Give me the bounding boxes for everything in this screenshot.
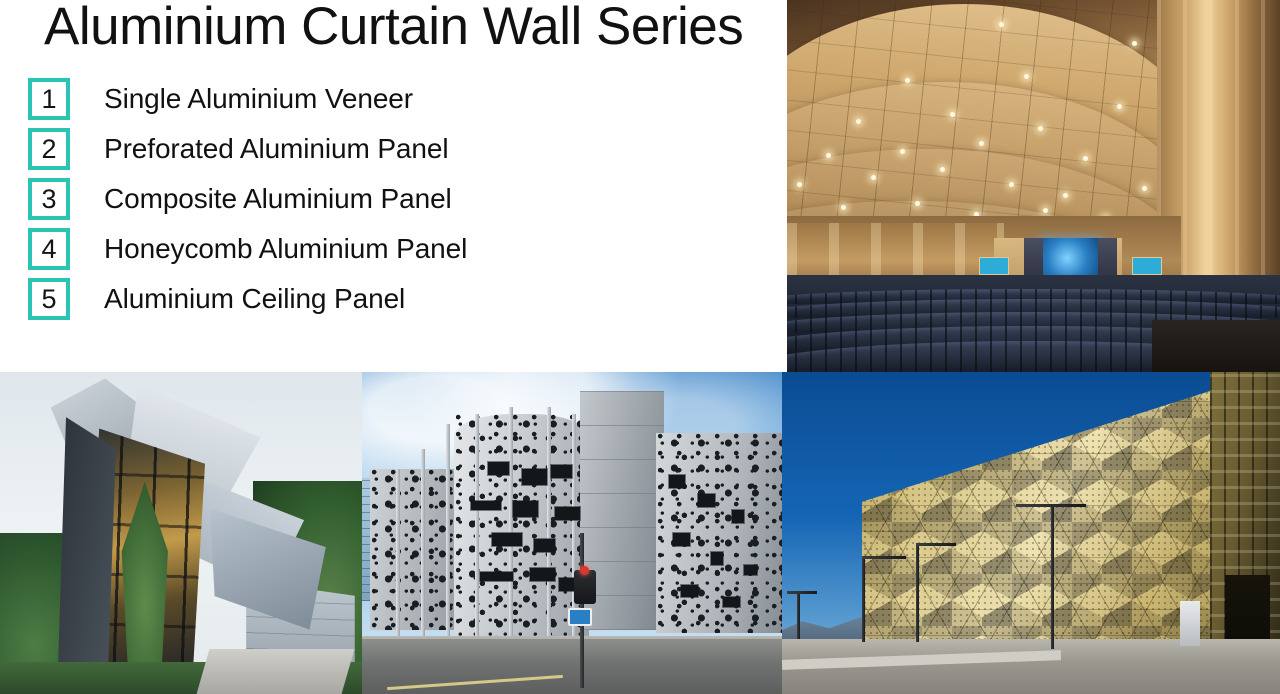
list-item[interactable]: 1 Single Aluminium Veneer xyxy=(28,74,467,124)
list-item-label: Single Aluminium Veneer xyxy=(104,83,413,115)
list-number-box: 4 xyxy=(28,228,70,270)
list-item-label: Composite Aluminium Panel xyxy=(104,183,452,215)
page-title: Aluminium Curtain Wall Series xyxy=(44,0,743,58)
aisle-floor xyxy=(1152,320,1280,372)
list-number-box: 1 xyxy=(28,78,70,120)
faceted-building-photo xyxy=(0,372,362,694)
info-kiosk xyxy=(1180,601,1200,646)
product-list: 1 Single Aluminium Veneer 2 Preforated A… xyxy=(28,74,467,324)
slide-canvas: Aluminium Curtain Wall Series 1 Single A… xyxy=(0,0,1280,694)
traffic-light-head xyxy=(574,570,596,604)
wall-display-sign xyxy=(1132,257,1162,276)
list-item[interactable]: 3 Composite Aluminium Panel xyxy=(28,174,467,224)
pedestrian-sign xyxy=(568,608,592,626)
list-item-label: Aluminium Ceiling Panel xyxy=(104,283,405,315)
list-item[interactable]: 2 Preforated Aluminium Panel xyxy=(28,124,467,174)
dark-frame-edge xyxy=(58,417,116,681)
gold-triangle-facade-photo xyxy=(782,372,1280,694)
perforated-carpark-photo xyxy=(362,372,782,694)
list-number-box: 5 xyxy=(28,278,70,320)
list-number-box: 2 xyxy=(28,128,70,170)
auditorium-ceiling-photo xyxy=(787,0,1280,372)
list-number-box: 3 xyxy=(28,178,70,220)
list-item[interactable]: 4 Honeycomb Aluminium Panel xyxy=(28,224,467,274)
list-item[interactable]: 5 Aluminium Ceiling Panel xyxy=(28,274,467,324)
text-panel: Aluminium Curtain Wall Series 1 Single A… xyxy=(0,0,787,372)
walkway xyxy=(196,649,354,694)
list-item-label: Honeycomb Aluminium Panel xyxy=(104,233,467,265)
wall-display-sign xyxy=(979,257,1009,276)
list-item-label: Preforated Aluminium Panel xyxy=(104,133,448,165)
